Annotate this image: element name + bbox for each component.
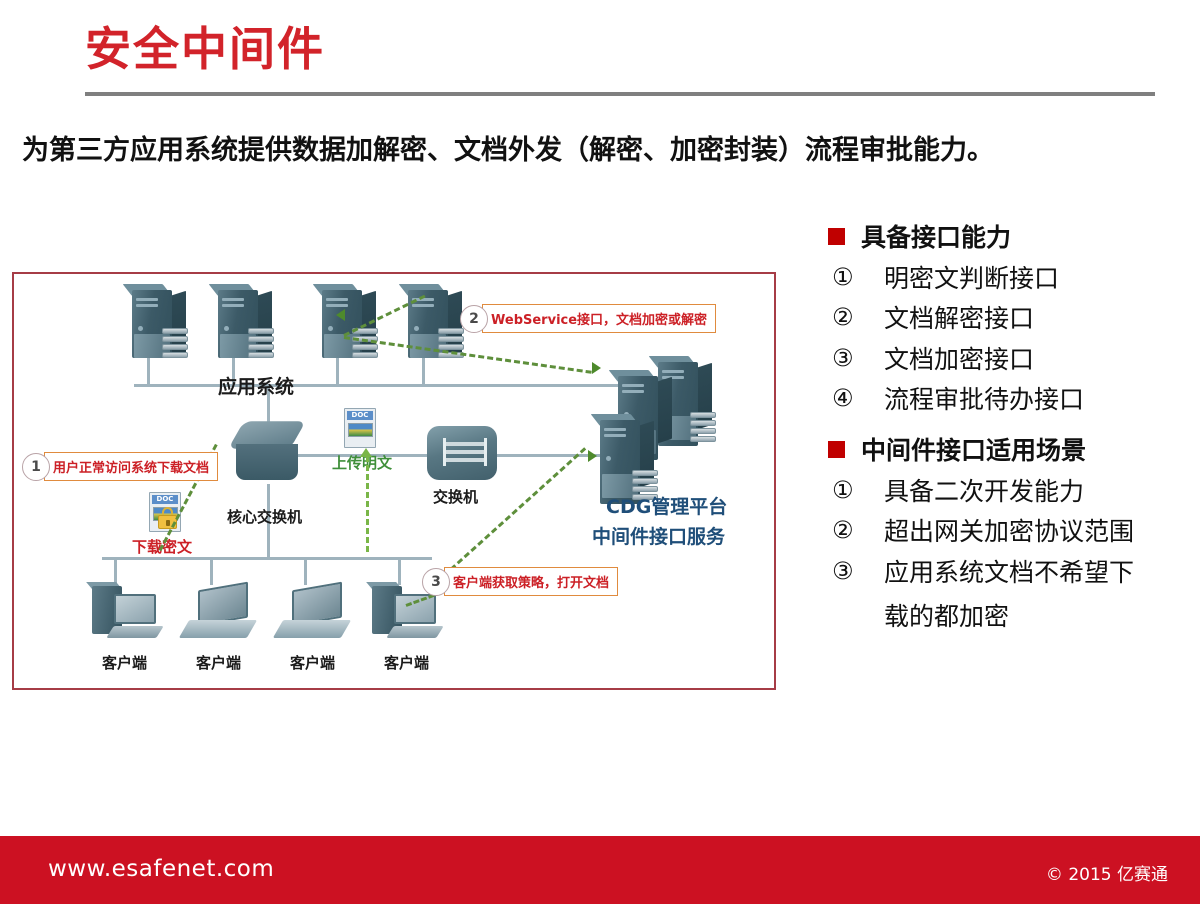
client-laptop-3 xyxy=(278,586,350,642)
list-item[interactable]: ① 明密文判断接口 xyxy=(832,263,1198,294)
doc-badge-download: DOC xyxy=(152,495,178,504)
list-index: ③ xyxy=(832,344,884,372)
list-item[interactable]: ③ 文档加密接口 xyxy=(832,344,1198,375)
list-item[interactable]: ① 具备二次开发能力 xyxy=(832,476,1198,507)
section-header-scenarios: 中间件接口适用场景 xyxy=(828,431,1198,467)
list-text: 应用系统文档不希望下 xyxy=(884,557,1134,588)
page-title: 安全中间件 xyxy=(85,22,325,77)
flow-arrow-policy xyxy=(588,450,597,462)
list-index: ① xyxy=(832,476,884,504)
capabilities-panel: 具备接口能力 ① 明密文判断接口 ② 文档解密接口 ③ 文档加密接口 ④ 流程审… xyxy=(828,218,1198,637)
list-index: ② xyxy=(832,303,884,331)
list-index: ④ xyxy=(832,384,884,412)
switch-icon xyxy=(427,426,497,480)
app-systems-label: 应用系统 xyxy=(218,372,294,399)
flow-arrow-upload xyxy=(360,448,372,457)
list-item[interactable]: ② 超出网关加密协议范围 xyxy=(832,516,1198,547)
upload-doc-icon: DOC xyxy=(344,408,376,448)
footer-website-link[interactable]: www.esafenet.com xyxy=(48,856,274,882)
callout-1-number: 1 xyxy=(22,453,50,481)
callout-1-text: 用户正常访问系统下载文档 xyxy=(44,452,218,481)
list-index: ③ xyxy=(832,557,884,585)
client-label-1: 客户端 xyxy=(102,652,147,673)
bullet-square-icon xyxy=(828,441,845,458)
footer-copyright: © 2015 亿赛通 xyxy=(1046,860,1168,885)
section-header-capabilities: 具备接口能力 xyxy=(828,218,1198,254)
callout-2-text: WebService接口，文档加密或解密 xyxy=(482,304,716,333)
list-index: ① xyxy=(832,263,884,291)
client-laptop-2 xyxy=(184,586,256,642)
callout-3-text: 客户端获取策略，打开文档 xyxy=(444,567,618,596)
list-item[interactable]: ④ 流程审批待办接口 xyxy=(832,384,1198,415)
app-server-1 xyxy=(124,284,190,362)
app-server-2 xyxy=(210,284,276,362)
client-label-3: 客户端 xyxy=(290,652,335,673)
callout-2-number: 2 xyxy=(460,305,488,333)
flow-arrow-ws-2 xyxy=(336,309,345,321)
core-switch-label: 核心交换机 xyxy=(227,506,302,527)
flow-arrow-ws-1 xyxy=(592,362,601,374)
list-item[interactable]: ② 文档解密接口 xyxy=(832,303,1198,334)
client-drop-4 xyxy=(398,557,401,585)
list-text-continuation: 载的都加密 xyxy=(884,597,1198,633)
download-doc-icon: DOC xyxy=(149,492,181,532)
client-drop-1 xyxy=(114,557,117,585)
list-text: 流程审批待办接口 xyxy=(884,384,1084,415)
callout-3-number: 3 xyxy=(422,568,450,596)
cdg-platform-label-line1: CDG管理平台 xyxy=(606,492,727,519)
client-label-4: 客户端 xyxy=(384,652,429,673)
architecture-diagram: 应用系统 核心交换机 交换机 DOC 上传明文 DOC xyxy=(12,272,776,690)
client-drop-3 xyxy=(304,557,307,585)
page-subtitle: 为第三方应用系统提供数据加解密、文档外发（解密、加密封装）流程审批能力。 xyxy=(22,128,1182,167)
cdg-platform-label-line2: 中间件接口服务 xyxy=(592,522,725,549)
flow-line-ws-1 xyxy=(344,336,592,374)
client-desktop-1 xyxy=(92,582,162,640)
list-text: 文档解密接口 xyxy=(884,303,1034,334)
callout-2[interactable]: 2 WebService接口，文档加密或解密 xyxy=(460,304,716,333)
switch-label: 交换机 xyxy=(433,486,478,507)
network-bus-top xyxy=(134,384,634,387)
client-drop-2 xyxy=(210,557,213,585)
list-text: 具备二次开发能力 xyxy=(884,476,1084,507)
list-text: 文档加密接口 xyxy=(884,344,1034,375)
list-item[interactable]: ③ 应用系统文档不希望下 xyxy=(832,557,1198,588)
slide-root: 安全中间件 为第三方应用系统提供数据加解密、文档外发（解密、加密封装）流程审批能… xyxy=(0,0,1200,904)
section-title-capabilities: 具备接口能力 xyxy=(861,218,1011,254)
section-title-scenarios: 中间件接口适用场景 xyxy=(861,431,1086,467)
core-switch-icon xyxy=(236,420,300,482)
list-index: ② xyxy=(832,516,884,544)
list-text: 超出网关加密协议范围 xyxy=(884,516,1134,547)
list-text: 明密文判断接口 xyxy=(884,263,1059,294)
flow-line-upload xyxy=(366,456,369,552)
client-label-2: 客户端 xyxy=(196,652,241,673)
callout-1[interactable]: 1 用户正常访问系统下载文档 xyxy=(22,452,218,481)
callout-3[interactable]: 3 客户端获取策略，打开文档 xyxy=(422,567,618,596)
bullet-square-icon xyxy=(828,228,845,245)
title-divider xyxy=(85,92,1155,96)
footer-bar: www.esafenet.com © 2015 亿赛通 xyxy=(0,836,1200,904)
network-bus-clients xyxy=(102,557,432,560)
doc-badge-upload: DOC xyxy=(347,411,373,420)
